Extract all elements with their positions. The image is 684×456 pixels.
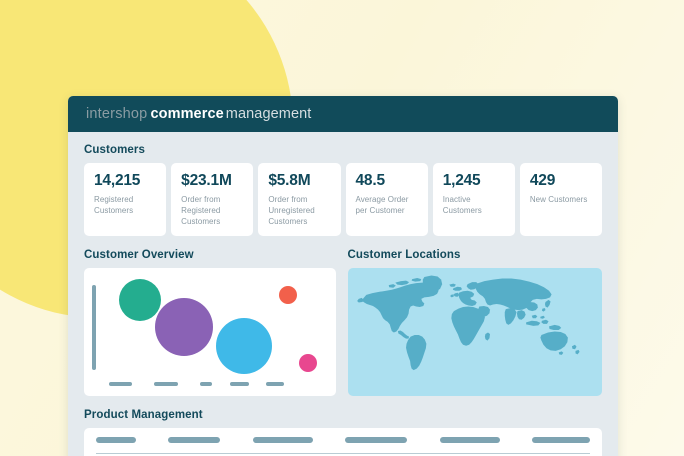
mid-panel-row: Customer Overview Customer Locations [84, 249, 602, 396]
dashboard-window: intershopcommercemanagement Customers 14… [68, 96, 618, 456]
intershop-logo[interactable]: intershopcommercemanagement [86, 106, 311, 122]
blue-bubble[interactable] [216, 318, 272, 374]
product-table-column-header-bar[interactable] [168, 437, 220, 443]
kpi-label: Inactive Customers [443, 194, 506, 216]
product-table-column-header-bar[interactable] [345, 437, 407, 443]
kpi-card[interactable]: $23.1MOrder from Registered Customers [171, 163, 253, 236]
product-table-column-header-bar[interactable] [96, 437, 136, 443]
pink-bubble[interactable] [299, 354, 317, 372]
kpi-card[interactable]: $5.8MOrder from Unregistered Customers [258, 163, 340, 236]
kpi-value: 429 [530, 172, 593, 189]
chart-x-axis-tick [109, 382, 132, 386]
section-title-customers: Customers [84, 144, 602, 156]
product-table-divider [96, 453, 590, 454]
section-title-customer-overview: Customer Overview [84, 249, 336, 261]
kpi-value: 1,245 [443, 172, 506, 189]
section-title-customer-locations: Customer Locations [348, 249, 602, 261]
kpi-label: Order from Unregistered Customers [268, 194, 331, 227]
kpi-label: Registered Customers [94, 194, 157, 216]
section-title-product-management: Product Management [84, 409, 602, 421]
world-map-icon [348, 268, 602, 396]
brand-word-management: management [226, 106, 312, 122]
product-table-column-header-bar[interactable] [253, 437, 313, 443]
kpi-card[interactable]: 14,215Registered Customers [84, 163, 166, 236]
dashboard-content: Customers 14,215Registered Customers$23.… [68, 132, 618, 456]
product-management-table[interactable] [84, 428, 602, 456]
kpi-card-row: 14,215Registered Customers$23.1MOrder fr… [84, 163, 602, 236]
chart-x-axis-tick [154, 382, 178, 386]
product-table-column-header-bar[interactable] [440, 437, 500, 443]
customer-locations-world-map[interactable] [348, 268, 602, 396]
chart-x-axis-tick [230, 382, 249, 386]
kpi-label: Order from Registered Customers [181, 194, 244, 227]
application-titlebar: intershopcommercemanagement [68, 96, 618, 132]
kpi-value: 48.5 [356, 172, 419, 189]
kpi-card[interactable]: 48.5Average Order per Customer [346, 163, 428, 236]
orange-bubble[interactable] [279, 286, 297, 304]
kpi-card[interactable]: 429New Customers [520, 163, 602, 236]
kpi-label: New Customers [530, 194, 593, 205]
teal-bubble[interactable] [119, 279, 161, 321]
product-management-panel: Product Management [84, 409, 602, 456]
kpi-value: 14,215 [94, 172, 157, 189]
brand-name-intershop: intershop [86, 106, 147, 122]
chart-x-axis-tick [266, 382, 284, 386]
brand-word-commerce: commerce [150, 106, 223, 122]
customer-overview-panel: Customer Overview [84, 249, 336, 396]
chart-y-axis [92, 285, 96, 370]
kpi-card[interactable]: 1,245Inactive Customers [433, 163, 515, 236]
customer-locations-panel: Customer Locations [348, 249, 602, 396]
chart-x-axis-tick [200, 382, 212, 386]
customer-overview-bubble-chart[interactable] [84, 268, 336, 396]
kpi-label: Average Order per Customer [356, 194, 419, 216]
kpi-value: $5.8M [268, 172, 331, 189]
product-table-column-header-bar[interactable] [532, 437, 590, 443]
kpi-value: $23.1M [181, 172, 244, 189]
purple-bubble[interactable] [155, 298, 213, 356]
product-table-column-headers [96, 437, 590, 443]
